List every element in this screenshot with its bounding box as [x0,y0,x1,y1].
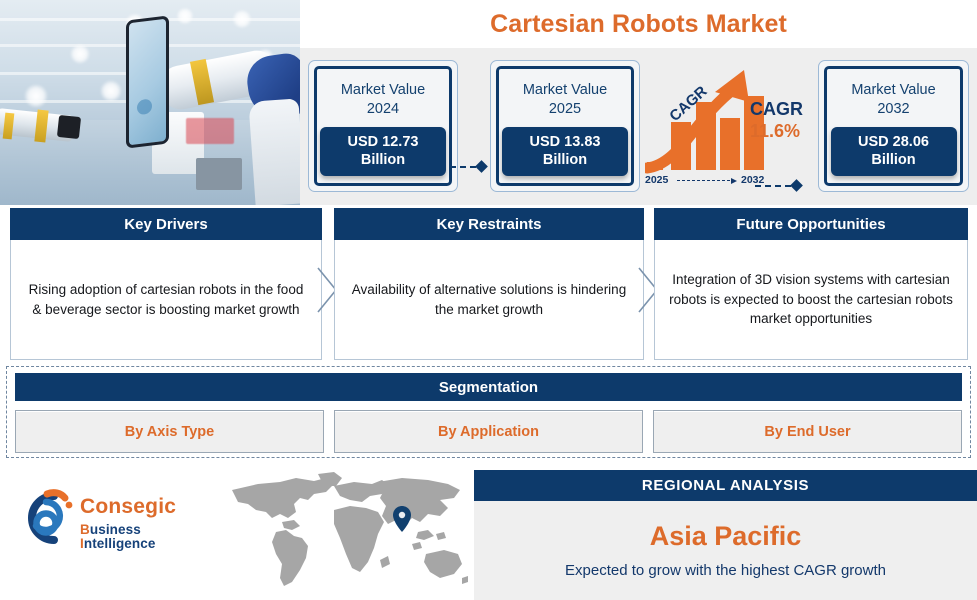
robot-base [248,98,300,205]
world-map [222,468,470,594]
market-value-card-inner: Market Value 2025 USD 13.83 Billion [496,66,634,186]
key-restraints-heading: Key Restraints [334,208,644,240]
market-value-card-2025: Market Value 2025 USD 13.83 Billion [490,60,640,192]
brand-tagline-ntelligence: ntelligence [84,536,156,551]
card-connector [440,162,486,171]
cagr-value: 11.6% [750,120,803,143]
connector-diamond [790,179,803,192]
future-opportunities-body: Integration of 3D vision systems with ca… [654,240,968,360]
robot-gripper [57,115,81,139]
brand-logo[interactable]: Consegic Business Intelligence [14,486,214,552]
market-value-chip: USD 28.06 Billion [831,127,957,176]
segmentation-items: By Axis Type By Application By End User [15,410,962,453]
photo-monitor [196,158,242,190]
regional-analysis-heading: REGIONAL ANALYSIS [474,470,977,501]
market-value-amount: USD 28.06 [858,134,929,150]
connector-diamond [475,160,488,173]
market-value-card-2032: Market Value 2032 USD 28.06 Billion [818,60,969,192]
market-value-label: Market Value 2032 [851,81,935,118]
market-value-unit: Billion [543,152,587,168]
segmentation-item-application[interactable]: By Application [334,410,643,453]
market-value-label-line1: Market Value [341,82,425,98]
cagr-start-year: 2025 [645,174,668,186]
cagr-bar [671,122,691,170]
market-value-year: 2025 [549,101,581,117]
market-value-chip: USD 13.83 Billion [502,127,628,176]
market-value-amount: USD 13.83 [530,134,601,150]
cagr-bar [696,102,716,170]
tablet-device [126,15,169,148]
bottom-section: Consegic Business Intelligence [0,462,977,600]
consegic-logo-icon [14,488,76,548]
market-value-year: 2024 [367,101,399,117]
segmentation-heading: Segmentation [15,373,962,401]
cagr-label: CAGR [750,100,803,118]
cagr-chart: CAGR CAGR 11.6% 2025 2032 [645,62,815,190]
card-connector [755,181,801,190]
regional-analysis-panel: REGIONAL ANALYSIS Asia Pacific Expected … [474,470,977,600]
regional-analysis-region: Asia Pacific [650,522,802,552]
market-value-unit: Billion [361,152,405,168]
key-drivers-text: Rising adoption of cartesian robots in t… [25,280,307,319]
cagr-bar [647,162,663,170]
market-value-label-line1: Market Value [523,82,607,98]
photo-light [232,10,252,28]
world-map-svg [222,468,470,594]
key-restraints-body: Availability of alternative solutions is… [334,240,644,360]
market-value-unit: Billion [871,152,915,168]
key-restraints-text: Availability of alternative solutions is… [349,280,629,319]
future-opportunities-heading: Future Opportunities [654,208,968,240]
market-value-year: 2032 [877,101,909,117]
photo-light [24,84,48,108]
cagr-value-block: CAGR 11.6% [750,100,803,143]
world-map-landmasses [232,472,468,586]
brand-name: Consegic [80,496,214,517]
photo-light [176,8,194,24]
regional-analysis-body: Asia Pacific Expected to grow with the h… [474,501,977,600]
map-location-pin-icon [393,506,411,532]
segmentation-section: Segmentation By Axis Type By Application… [6,366,971,458]
hero-photo [0,0,300,205]
key-drivers-heading: Key Drivers [10,208,322,240]
market-value-chip: USD 12.73 Billion [320,127,446,176]
cagr-year-arrow [677,180,735,181]
key-drivers-box: Key Drivers Rising adoption of cartesian… [10,208,322,360]
metrics-strip: Market Value 2024 USD 12.73 Billion Mark… [300,48,977,205]
market-value-label-line1: Market Value [851,82,935,98]
top-section: Cartesian Robots Market Market Value 202… [0,0,977,205]
market-value-amount: USD 12.73 [348,134,419,150]
segmentation-item-axis-type[interactable]: By Axis Type [15,410,324,453]
title-bar: Cartesian Robots Market [300,0,977,48]
brand-logo-text: Consegic Business Intelligence [80,496,214,550]
infographic-page: Cartesian Robots Market Market Value 202… [0,0,977,600]
connector-dash [755,185,791,187]
key-restraints-box: Key Restraints Availability of alternati… [334,208,644,360]
market-value-card-2024: Market Value 2024 USD 12.73 Billion [308,60,458,192]
market-value-label: Market Value 2025 [523,81,607,118]
market-value-label: Market Value 2024 [341,81,425,118]
future-opportunities-box: Future Opportunities Integration of 3D v… [654,208,968,360]
page-title: Cartesian Robots Market [490,10,787,39]
market-value-card-inner: Market Value 2032 USD 28.06 Billion [824,66,963,186]
regional-analysis-note: Expected to grow with the highest CAGR g… [565,562,886,579]
brand-tagline: Business Intelligence [80,523,214,550]
cagr-bar [720,118,740,170]
key-drivers-body: Rising adoption of cartesian robots in t… [10,240,322,360]
market-value-card-inner: Market Value 2024 USD 12.73 Billion [314,66,452,186]
future-opportunities-text: Integration of 3D vision systems with ca… [669,270,953,329]
factors-section: Key Drivers Rising adoption of cartesian… [0,208,977,360]
segmentation-item-end-user[interactable]: By End User [653,410,962,453]
photo-sign [186,118,234,144]
photo-light [100,80,122,102]
photo-light [70,44,90,64]
connector-dash [440,166,476,168]
